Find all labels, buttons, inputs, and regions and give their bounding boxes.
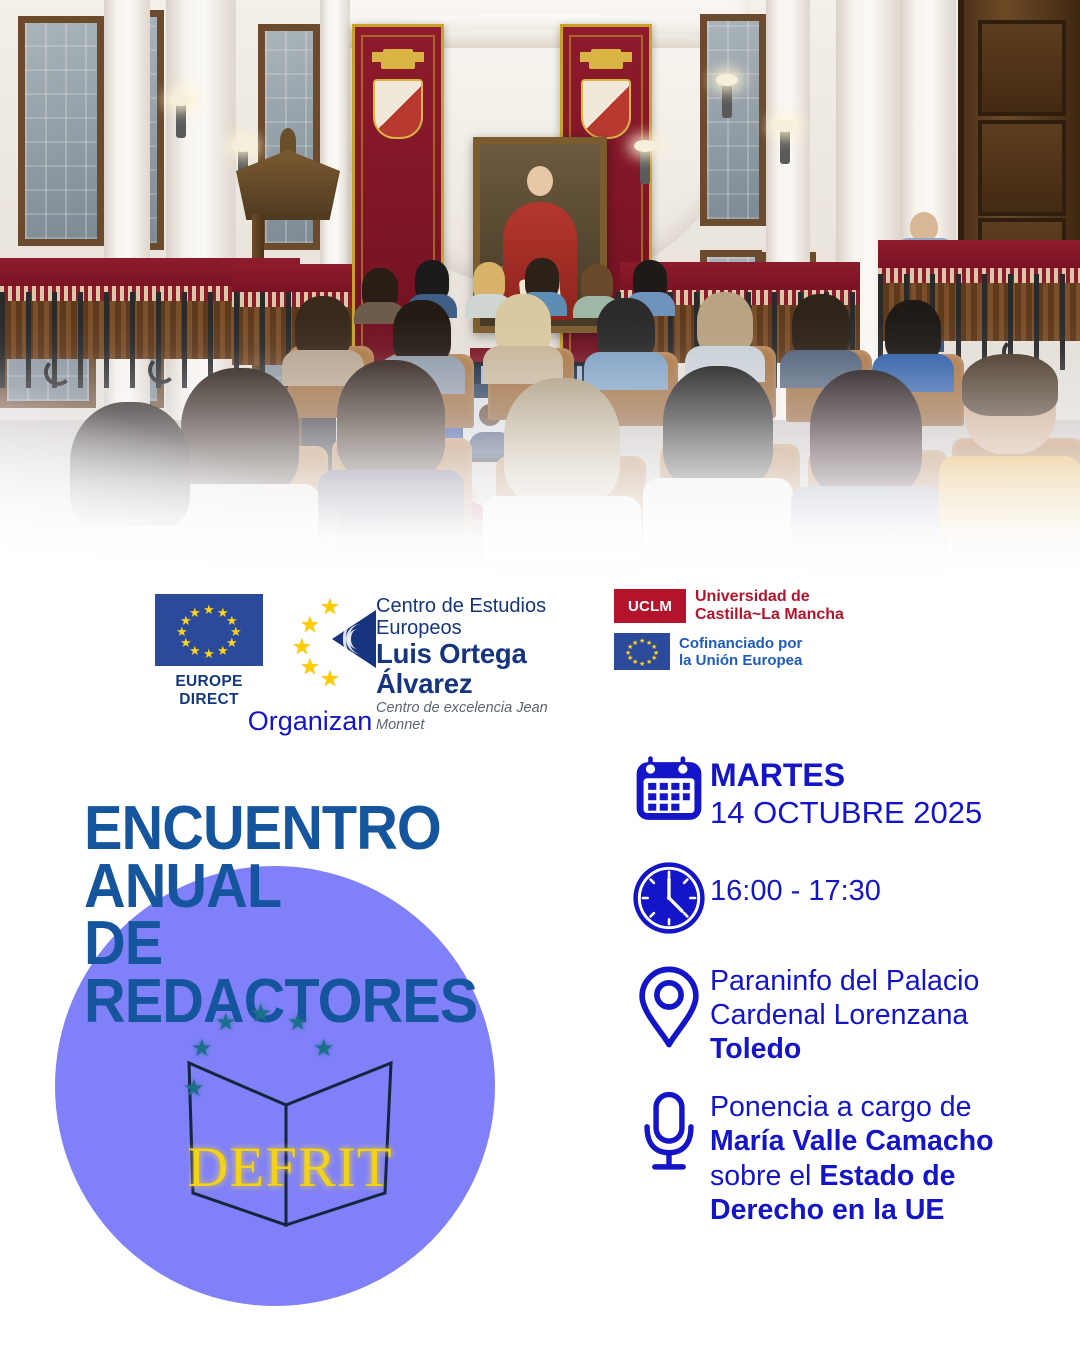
eu-flag-small-icon: ★ ★ ★ ★ ★ ★ ★ ★ ★ ★ ★ ★ (614, 633, 670, 670)
cee-line2: Luis Ortega Álvarez (376, 639, 594, 698)
cee-line1: Centro de Estudios Europeos (376, 596, 594, 639)
eu-flag-icon: ★ ★ ★ ★ ★ ★ ★ ★ ★ ★ ★ ★ (155, 594, 263, 666)
event-poster: ★ ★ ★ ★ ★ ★ ★ ★ ★ ★ ★ ★ EUROPE DIRECT ★ … (0, 0, 1080, 1350)
speaker-topic-bold1: Estado de (819, 1160, 955, 1192)
uclm-badge: UCLM (614, 589, 686, 623)
logo-centro-estudios-europeos: ★ ★ ★ ★ ★ Centro de Estudios Europeos Lu… (292, 590, 592, 690)
speaker-intro: Ponencia a cargo de (710, 1090, 1048, 1124)
calendar-icon (628, 752, 710, 828)
venue-city: Toledo (710, 1032, 1048, 1066)
defrit-wordmark: DEFRIT (165, 1135, 415, 1200)
venue-line2: Cardenal Lorenzana (710, 998, 1048, 1032)
defrit-emblem: ★ ★ ★ ★ ★ ★ DEFRIT (165, 985, 415, 1250)
organizer-logos: ★ ★ ★ ★ ★ ★ ★ ★ ★ ★ ★ ★ EUROPE DIRECT ★ … (0, 586, 1080, 696)
speaker-topic-line2: Derecho en la UE (710, 1193, 1048, 1227)
microphone-icon (628, 1088, 710, 1174)
detail-venue: Paraninfo del Palacio Cardenal Lorenzana… (628, 962, 1048, 1067)
event-details: MARTES 14 OCTUBRE 2025 (628, 752, 1048, 1253)
venue-photograph (0, 0, 1080, 578)
logo-europe-direct: ★ ★ ★ ★ ★ ★ ★ ★ ★ ★ ★ ★ EUROPE DIRECT (150, 594, 268, 709)
jean-monnet-mark-icon: ★ ★ ★ ★ ★ (292, 596, 376, 682)
location-pin-icon (628, 962, 710, 1050)
cofinanciado-line2: la Unión Europea (679, 652, 802, 669)
speaker-topic-line1: sobre el Estado de (710, 1159, 1048, 1193)
uclm-line2: Castilla~La Mancha (695, 606, 844, 624)
venue-line1: Paraninfo del Palacio (710, 964, 1048, 998)
speaker-name: María Valle Camacho (710, 1124, 1048, 1158)
uclm-line1: Universidad de (695, 588, 844, 606)
detail-time: 16:00 - 17:30 (628, 858, 1048, 936)
time-range: 16:00 - 17:30 (710, 858, 1048, 909)
organizan-label: Organizan (0, 706, 620, 737)
logo-cofinanciado: ★ ★ ★ ★ ★ ★ ★ ★ ★ ★ ★ ★ Cofinanciado por… (614, 633, 864, 670)
cofinanciado-line1: Cofinanciado por (679, 635, 802, 652)
clock-icon (628, 858, 710, 936)
detail-speaker: Ponencia a cargo de María Valle Camacho … (628, 1088, 1048, 1227)
title-line-1: ENCUENTRO ANUAL (84, 794, 441, 921)
date-full: 14 OCTUBRE 2025 (710, 794, 1048, 831)
detail-date: MARTES 14 OCTUBRE 2025 (628, 752, 1048, 832)
speaker-topic-prefix: sobre el (710, 1160, 819, 1192)
date-weekday: MARTES (710, 756, 1048, 794)
europe-direct-label: EUROPE DIRECT (150, 673, 268, 709)
logo-uclm: UCLM Universidad de Castilla~La Mancha ★… (614, 588, 864, 670)
